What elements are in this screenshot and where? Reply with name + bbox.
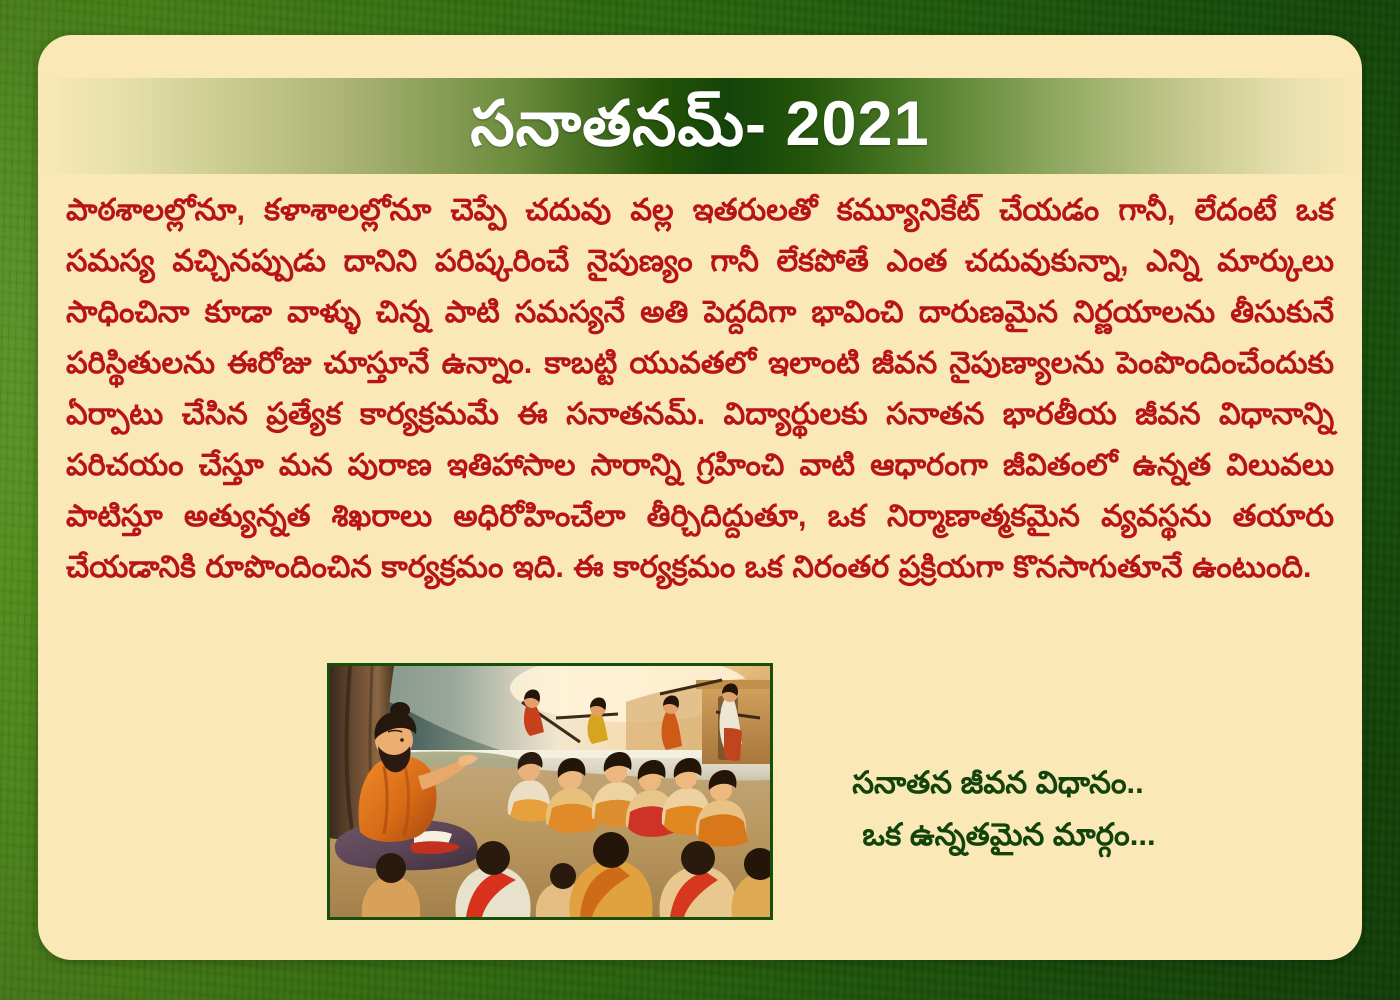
- caption-line-2: ఒక ఉన్నతమైన మార్గం...: [788, 809, 1208, 861]
- illustration-frame: [327, 663, 773, 920]
- body-paragraph-text: పాఠశాలల్లోనూ, కళాశాలల్లోనూ చెప్పే చదువు …: [66, 193, 1334, 584]
- caption-block: సనాతన జీవన విధానం.. ఒక ఉన్నతమైన మార్గం..…: [788, 757, 1208, 861]
- poster-root: సనాతనమ్- 2021 పాఠశాలల్లోనూ, కళాశాలల్లోనూ…: [0, 0, 1400, 1000]
- page-title: సనాతనమ్- 2021: [470, 93, 929, 156]
- content-card: సనాతనమ్- 2021 పాఠశాలల్లోనూ, కళాశాలల్లోనూ…: [38, 35, 1362, 960]
- body-paragraph: పాఠశాలల్లోనూ, కళాశాలల్లోనూ చెప్పే చదువు …: [66, 185, 1334, 593]
- title-banner: సనాతనమ్- 2021: [38, 78, 1362, 174]
- caption-line-1: సనాతన జీవన విధానం..: [788, 757, 1208, 809]
- gurukul-teaching-scene-image: [330, 666, 770, 917]
- illustration-caption-block: సనాతన జీవన విధానం.. ఒక ఉన్నతమైన మార్గం..…: [38, 657, 1362, 957]
- gurukul-scene-svg: [330, 666, 770, 917]
